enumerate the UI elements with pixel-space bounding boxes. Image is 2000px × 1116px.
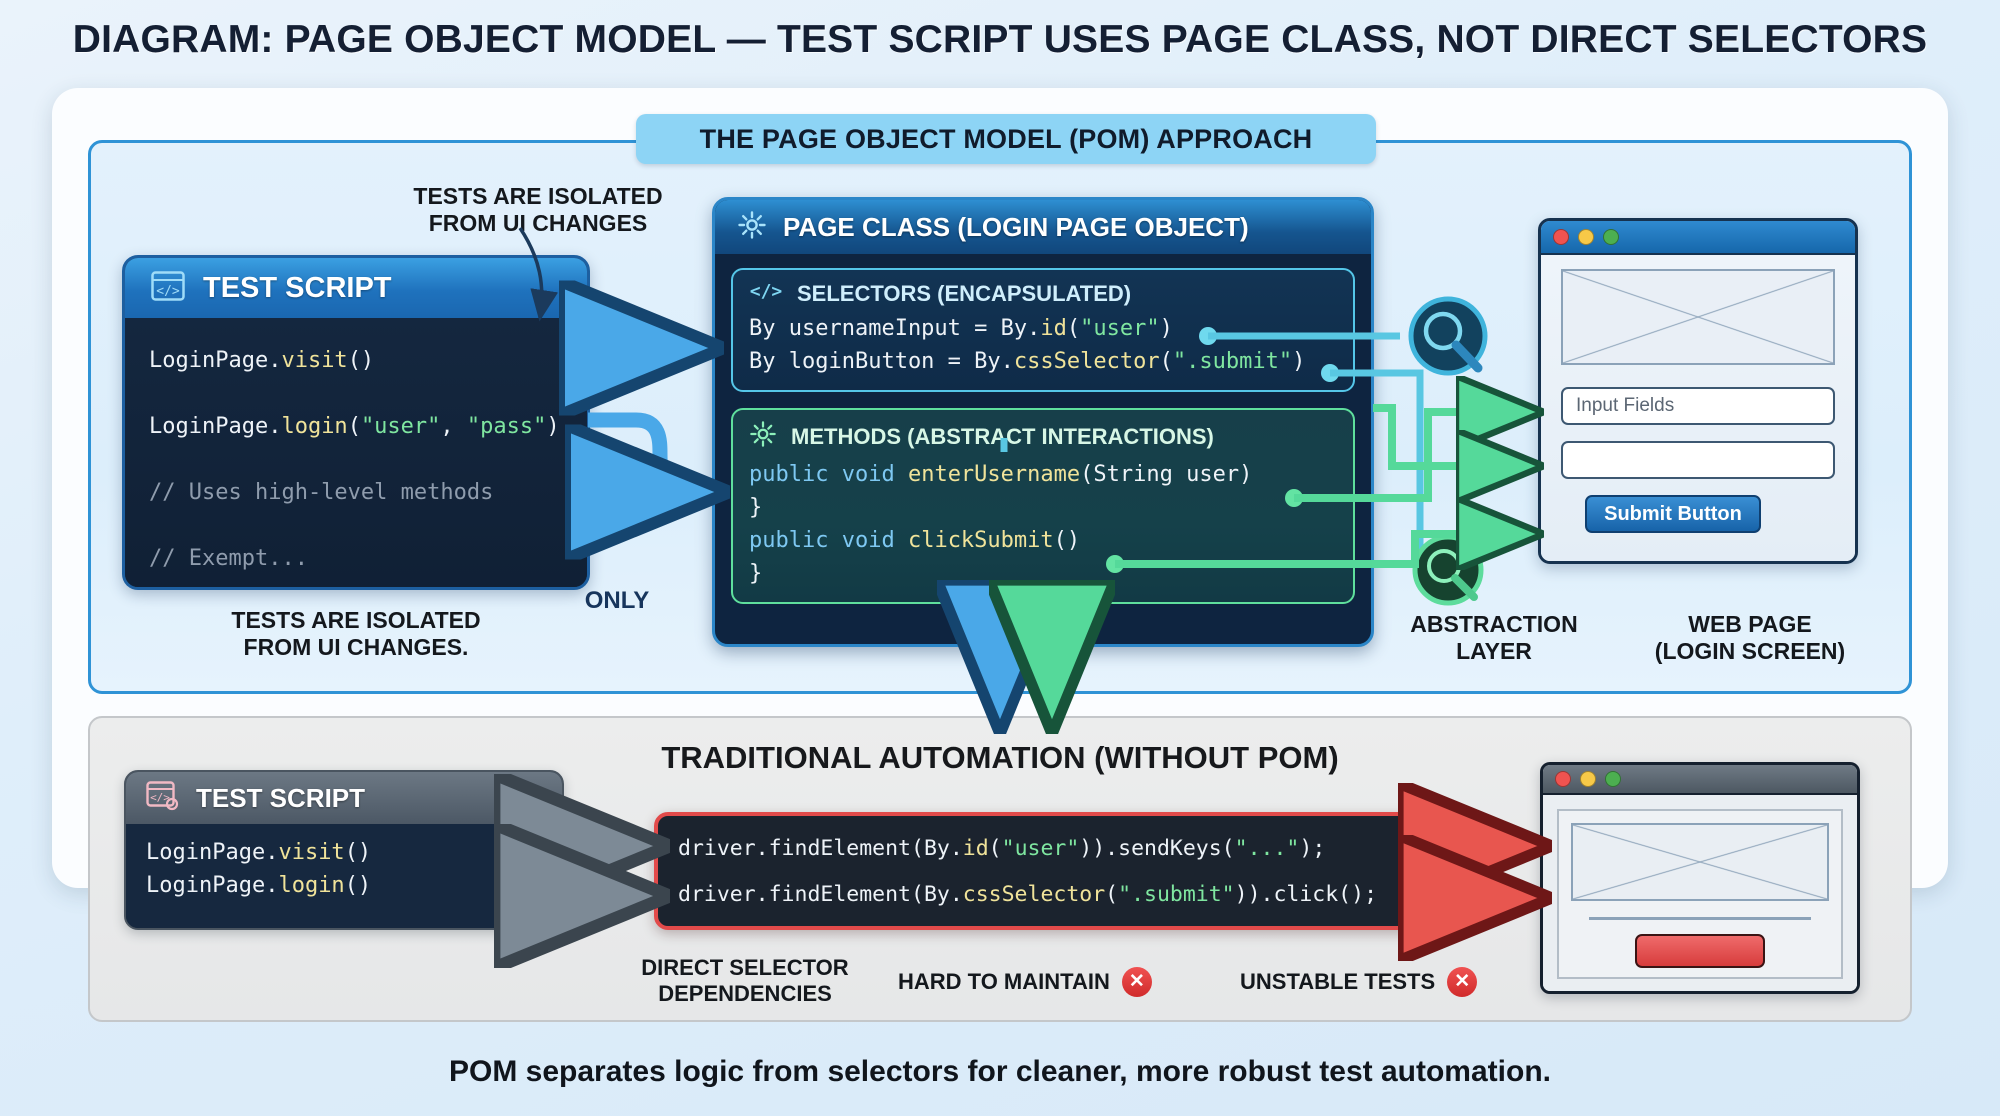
page-class-header: PAGE CLASS (LOGIN PAGE OBJECT) [715,200,1371,254]
traditional-test-script-code: LoginPage.visit()LoginPage.login() [126,824,562,930]
traditional-selector-code: driver.findElement(By.id("user")).sendKe… [678,826,1406,918]
code-line: // Uses high-level methods [149,476,563,509]
code-line: driver.findElement(By.cssSelector(".subm… [678,872,1406,918]
label-only: ONLY [562,587,672,615]
code-line: } [749,557,1337,590]
selectors-block-title: SELECTORS (ENCAPSULATED) [797,281,1131,307]
window-minimize-dot[interactable] [1578,229,1594,245]
pom-test-script-card: </> TEST SCRIPT LoginPage.visit() LoginP… [122,255,590,590]
page-class-body: </> SELECTORS (ENCAPSULATED) By username… [715,254,1371,614]
gear-icon [737,210,767,245]
label-tests-isolated-top: TESTS ARE ISOLATED FROM UI CHANGES [388,183,688,237]
traditional-test-script-card: </> TEST SCRIPT LoginPage.visit()LoginPa… [124,770,564,930]
page-class-card: PAGE CLASS (LOGIN PAGE OBJECT) </> SELEC… [712,197,1374,647]
window-close-dot[interactable] [1553,229,1569,245]
code-line: LoginPage.login() [146,869,542,902]
label-direct-selector-dependencies: DIRECT SELECTOR DEPENDENCIES [610,955,880,1007]
traditional-placeholder-image [1571,823,1829,901]
traditional-test-script-title: TEST SCRIPT [196,783,365,814]
svg-text:</>: </> [156,284,180,299]
page-class-title: PAGE CLASS (LOGIN PAGE OBJECT) [783,212,1249,243]
traditional-red-button[interactable] [1635,934,1765,968]
footer-note: POM separates logic from selectors for c… [0,1055,2000,1089]
traditional-test-script-header: </> TEST SCRIPT [126,772,562,824]
password-input[interactable] [1561,441,1835,479]
traditional-divider [1589,917,1811,920]
traditional-browser-titlebar [1543,765,1857,795]
methods-block: METHODS (ABSTRACT INTERACTIONS) public v… [731,408,1355,604]
code-line [149,509,563,542]
methods-code: public void enterUsername(String user)}p… [749,458,1337,590]
code-line: // Exempt... [149,542,563,575]
methods-block-title: METHODS (ABSTRACT INTERACTIONS) [791,424,1214,450]
window-close-dot[interactable] [1555,771,1571,787]
pom-approach-badge: THE PAGE OBJECT MODEL (POM) APPROACH [636,114,1376,164]
selectors-code: By usernameInput = By.id("user")By login… [749,312,1337,378]
code-line: driver.findElement(By.id("user")).sendKe… [678,826,1406,872]
window-maximize-dot[interactable] [1603,229,1619,245]
page-title: DIAGRAM: PAGE OBJECT MODEL — TEST SCRIPT… [0,18,2000,62]
label-web-page: WEB PAGE (LOGIN SCREEN) [1598,611,1902,665]
code-line: public void enterUsername(String user) [749,458,1337,491]
code-brackets-icon: </> [749,280,783,308]
x-error-icon: ✕ [1122,967,1152,997]
placeholder-image-wireframe [1561,269,1835,365]
code-line: By loginButton = By.cssSelector(".submit… [749,345,1337,378]
traditional-browser-content [1543,795,1857,994]
window-maximize-dot[interactable] [1605,771,1621,787]
selectors-block: </> SELECTORS (ENCAPSULATED) By username… [731,268,1355,392]
code-line: } [749,491,1337,524]
label-tests-isolated-bottom: TESTS ARE ISOLATED FROM UI CHANGES. [182,607,530,661]
traditional-selector-code-card: driver.findElement(By.id("user")).sendKe… [654,812,1430,930]
traditional-browser-mock [1540,762,1860,994]
pom-test-script-header: </> TEST SCRIPT [125,258,587,318]
label-abstraction-layer: ABSTRACTION LAYER [1372,611,1616,665]
traditional-wireframe-outer [1557,809,1843,979]
submit-button[interactable]: Submit Button [1585,495,1761,533]
code-line: public void clickSubmit() [749,524,1337,557]
selectors-block-title-row: </> SELECTORS (ENCAPSULATED) [749,280,1337,308]
x-error-icon: ✕ [1447,967,1477,997]
username-input[interactable]: Input Fields [1561,387,1835,425]
code-window-gear-icon: </> [146,781,180,816]
svg-text:</>: </> [750,281,783,302]
code-line: By usernameInput = By.id("user") [749,312,1337,345]
label-unstable-tests: UNSTABLE TESTS ✕ [1240,967,1477,997]
window-minimize-dot[interactable] [1580,771,1596,787]
code-line [149,443,563,476]
code-line: LoginPage.visit() [149,344,563,377]
gear-icon [749,420,777,454]
code-line [149,377,563,410]
diagram-canvas: DIAGRAM: PAGE OBJECT MODEL — TEST SCRIPT… [0,0,2000,1116]
code-line: LoginPage.visit() [146,836,542,869]
label-unstable-tests-text: UNSTABLE TESTS [1240,969,1435,995]
label-hard-to-maintain: HARD TO MAINTAIN ✕ [898,967,1152,997]
browser-content: Input Fields Submit Button [1541,255,1855,564]
browser-titlebar [1541,221,1855,255]
pom-test-script-title: TEST SCRIPT [203,272,392,305]
pom-test-script-code: LoginPage.visit() LoginPage.login("user"… [125,318,587,590]
code-window-icon: </> [151,271,185,306]
methods-block-title-row: METHODS (ABSTRACT INTERACTIONS) [749,420,1337,454]
web-page-browser-mock: Input Fields Submit Button [1538,218,1858,564]
code-line: LoginPage.login("user", "pass") [149,410,563,443]
label-hard-to-maintain-text: HARD TO MAINTAIN [898,969,1110,995]
